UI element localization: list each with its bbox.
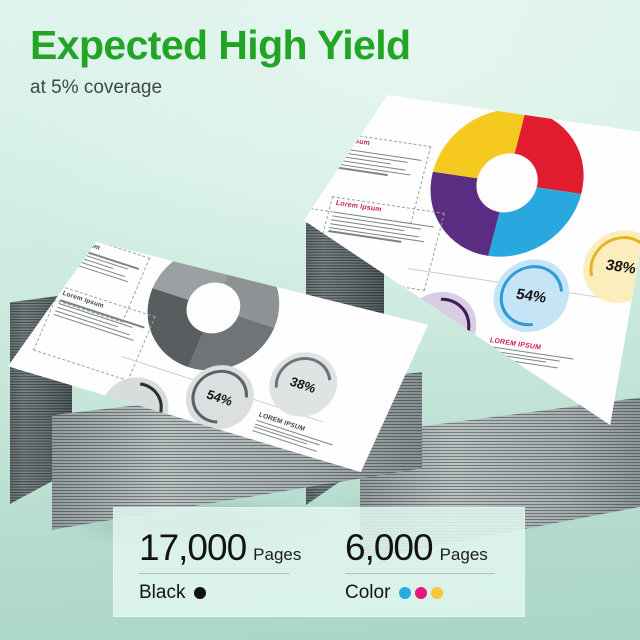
color-swatches [399,587,443,599]
mono-gauge-38-value: 38% [259,344,348,425]
color-text-block-1-heading: Lorem Ipsum [335,200,382,214]
mono-gauge-38: 38% [259,344,348,425]
color-page-count: 6,000 [345,529,433,566]
color-page-unit: Pages [440,546,488,563]
black-yield-row: 17,000 Pages [139,529,319,566]
page-title: Expected High Yield [30,22,490,68]
color-cycle-diagram [414,99,600,267]
black-label-row: Black [139,583,319,602]
yield-column-black: 17,000 Pages Black [113,507,319,617]
magenta-ink-dot [415,587,427,599]
black-swatches [194,587,206,599]
yield-columns: 17,000 Pages Black 6,000 Pages [113,507,525,617]
color-label: Color [345,583,390,602]
color-yield-row: 6,000 Pages [345,529,525,566]
cyan-ink-dot [399,587,411,599]
color-gauge-54-value: 54% [485,254,577,337]
color-divider [345,573,495,574]
color-label-row: Color [345,583,525,602]
mono-text-block-1-lines [40,299,145,374]
yield-column-color: 6,000 Pages Color [319,507,525,617]
color-gauge-54: 54% [485,254,577,337]
yellow-ink-dot [431,587,443,599]
black-divider [139,573,289,574]
color-caption-1: LOREM IPSUM [485,337,576,372]
black-ink-dot [194,587,206,599]
color-text-block-0-heading: Lorem Ipsum [323,134,370,148]
yield-summary-panel: 17,000 Pages Black 6,000 Pages [113,507,525,617]
color-gauge-38: 38% [575,225,640,308]
black-label: Black [139,583,185,602]
headline-block: Expected High Yield at 5% coverage [30,22,490,99]
black-page-count: 17,000 [139,529,246,566]
black-page-unit: Pages [253,546,301,563]
color-gauge-38-value: 38% [575,225,640,308]
product-hero-scene: Expected High Yield at 5% coverage [0,0,640,640]
mono-text-block-0-heading: Lorem Ipsum [58,242,102,252]
